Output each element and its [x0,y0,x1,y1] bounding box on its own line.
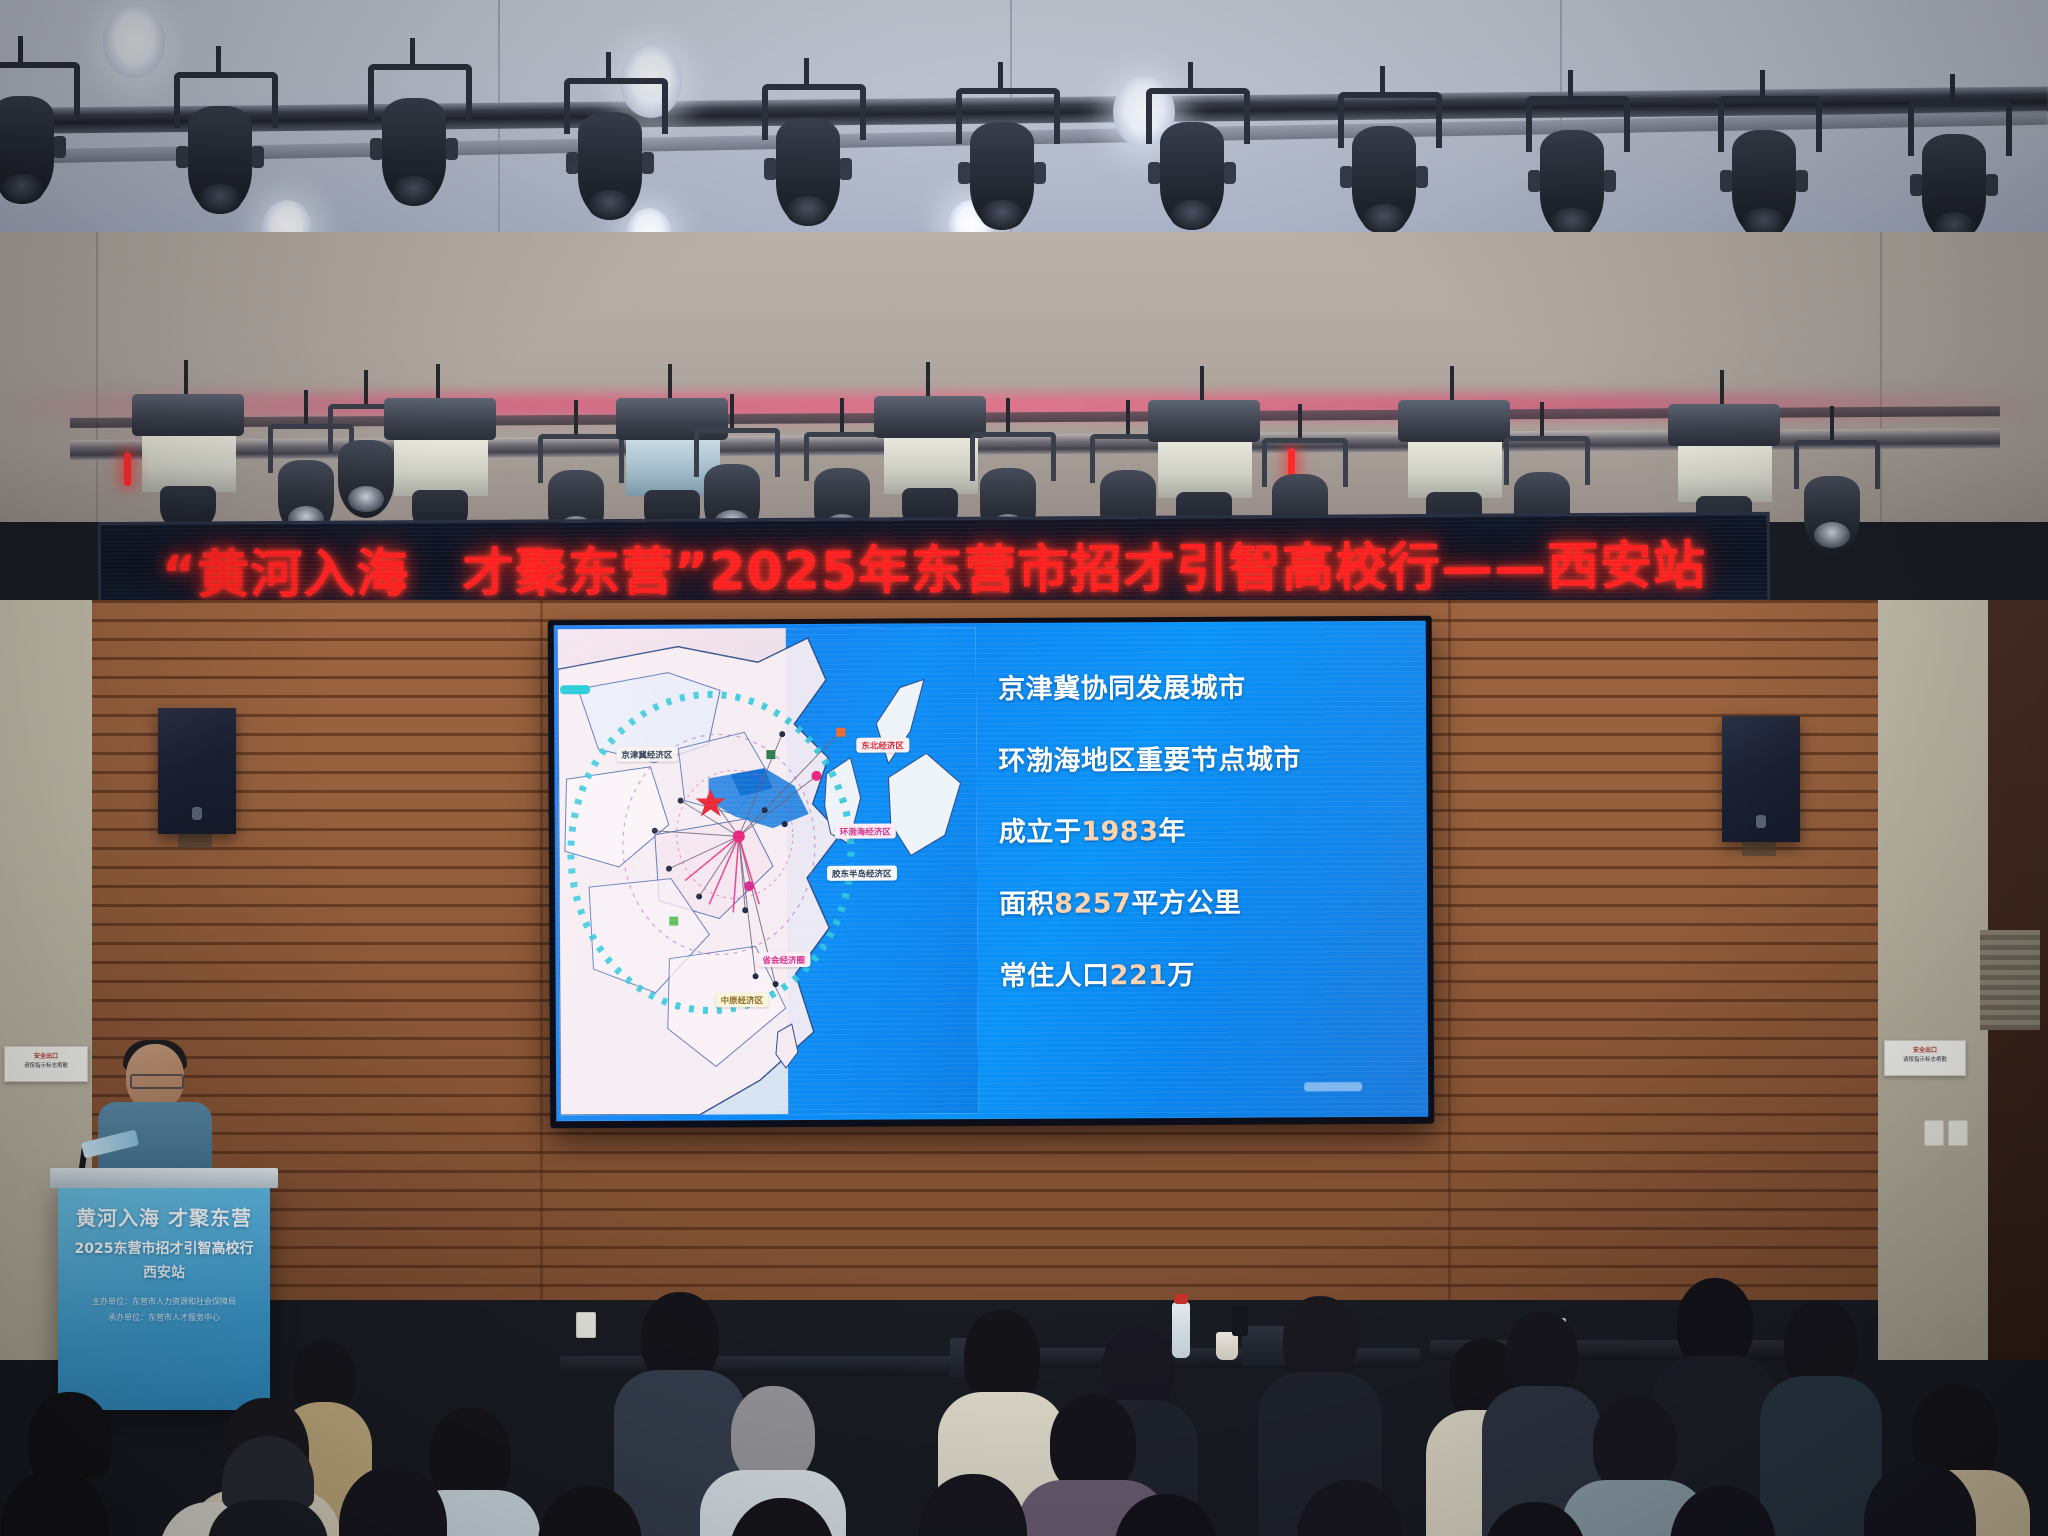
wall-sign-line1: 安全出口 [1885,1045,1965,1054]
audience-member [880,1474,1066,1536]
wall-seam [1880,232,1882,522]
led-display-screen: 京津冀经济区 东北经济区 环渤海经济区 胶东半岛经济区 省会经济圈 中原经济区 … [548,616,1435,1129]
stage-light-fixture [1140,88,1244,238]
map-vector-art [558,627,979,1115]
audience-member [1258,1480,1442,1536]
presenter-glasses [130,1074,184,1089]
conference-hall-photo: “黄河入海 才聚东营”2025年东营市招才引智高校行——西安站 安全出口 请按指… [0,0,2048,1536]
stage-light-fixture [950,88,1054,238]
slide-bullet: 常住人口221万 [999,960,1409,992]
slide-bullet: 环渤海地区重要节点城市 [998,745,1408,777]
map-label-northeast: 东北经济区 [856,737,909,752]
light-switch-plate[interactable] [1924,1120,1944,1146]
stage-light-fixture [168,72,272,222]
audience-member [1076,1494,1256,1536]
bullet-number: 8257 [1054,888,1131,919]
bullet-number: 221 [1109,960,1167,991]
audience-member [1820,1462,2020,1536]
map-label-zhongyuan: 中原经济区 [716,992,769,1007]
smartphone[interactable] [1232,1306,1248,1336]
audience-member [500,1486,680,1536]
audience-area [0,1150,2048,1536]
stage-light-fixture [1902,100,2006,250]
wall-sign-line1: 安全出口 [5,1051,87,1060]
stage-light-fixture [1790,436,1874,556]
audience-member [1630,1486,1816,1536]
map-legend-bar [560,685,590,694]
slide-bullet: 面积8257平方公里 [999,888,1409,920]
led-banner-text: “黄河入海 才聚东营”2025年东营市招才引智高校行——西安站 [162,523,1707,607]
bullet-prefix: 成立于 [999,817,1082,848]
stage-light-fixture [1396,400,1512,528]
stage-light-fixture [362,64,466,214]
map-label-jingjinji: 京津冀经济区 [616,747,677,762]
bullet-prefix: 京津冀协同发展城市 [998,673,1246,705]
bullet-number: 1983 [1081,816,1158,847]
map-label-bohai-rim: 环渤海经济区 [835,823,896,838]
wall-seam [96,232,98,522]
stage-light-fixture [1520,96,1624,246]
stage-light-fixture [558,78,662,228]
map-label-jiaodong: 胶东半岛经济区 [827,865,897,880]
audience-member-cap [208,1436,328,1536]
map-label-provincial: 省会经济圈 [757,952,810,967]
wall-sign-line2: 请按指示标志痏散 [1885,1055,1965,1063]
stage-light-fixture [756,84,860,234]
stage-light-fixture [1712,96,1816,246]
bullet-suffix: 年 [1158,816,1186,847]
loudspeaker-left [158,708,236,834]
wall-sign-line2: 请按指示标志痏散 [5,1061,87,1069]
slide-footer-mark [1304,1082,1362,1091]
presentation-slide: 京津冀经济区 东北经济区 环渤海经济区 胶东半岛经济区 省会经济圈 中原经济区 … [554,621,1429,1122]
bullet-prefix: 常住人口 [999,960,1109,992]
bullet-suffix: 平方公里 [1131,888,1241,920]
ceiling-downlight [103,6,165,78]
slide-map-graphic: 京津冀经济区 东北经济区 环渤海经济区 胶东半岛经济区 省会经济圈 中原经济区 [558,627,979,1115]
wall-sign-left: 安全出口 请按指示标志痏散 [4,1046,88,1082]
stage-light-fixture [130,394,246,522]
audience-member [690,1498,874,1536]
wall-sign-right: 安全出口 请按指示标志痏散 [1884,1040,1966,1076]
bullet-suffix: 万 [1167,960,1195,991]
stage-light-fixture [1332,92,1436,242]
stage-light-fixture [1146,400,1262,528]
paper-cup [1216,1332,1238,1360]
stage-light-indicator [124,452,131,486]
stage-light-fixture [382,398,498,526]
slide-bullet: 京津冀协同发展城市 [998,673,1408,705]
wall-vent [1980,930,2040,1030]
loudspeaker-right [1722,716,1800,842]
slide-bullet: 成立于1983年 [999,816,1409,848]
bullet-prefix: 环渤海地区重要节点城市 [998,744,1301,777]
stage-light-fixture [0,62,74,212]
light-switch-plate[interactable] [1948,1120,1968,1146]
slide-bullet-list: 京津冀协同发展城市 环渤海地区重要节点城市 成立于1983年 面积8257平方公… [998,673,1410,1034]
bullet-prefix: 面积 [999,889,1054,920]
audience-member [1444,1502,1626,1536]
